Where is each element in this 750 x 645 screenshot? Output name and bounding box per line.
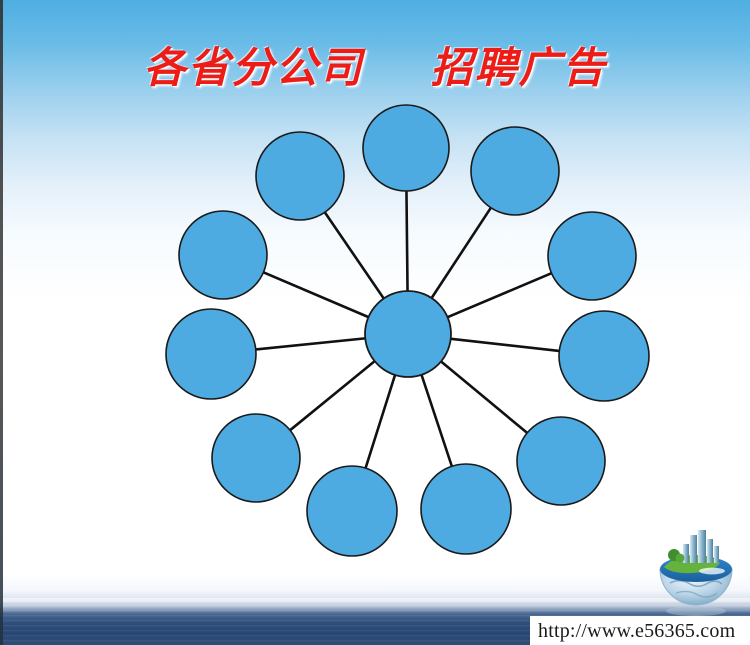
branch-node-8[interactable] — [212, 414, 300, 502]
spoke-line-3 — [447, 273, 553, 318]
hub-center-node[interactable] — [365, 291, 451, 377]
site-url-watermark: http://www.e56365.com — [530, 616, 750, 645]
spoke-line-2 — [431, 207, 491, 299]
branch-node-5[interactable] — [517, 417, 605, 505]
spoke-line-11 — [324, 211, 384, 299]
spoke-line-4 — [450, 339, 561, 351]
spoke-line-5 — [440, 361, 528, 434]
branch-node-10[interactable] — [179, 211, 267, 299]
branch-node-3[interactable] — [548, 212, 636, 300]
slide-canvas: 各省分公司 招聘广告 — [0, 0, 750, 645]
spoke-line-7 — [365, 374, 395, 469]
branch-node-1[interactable] — [363, 105, 449, 191]
globe-city-logo — [646, 527, 746, 619]
branch-node-7[interactable] — [307, 466, 397, 556]
hub-node-group — [365, 291, 451, 377]
logo-shadow — [666, 606, 726, 616]
branch-node-6[interactable] — [421, 464, 511, 554]
spoke-line-8 — [289, 361, 375, 431]
spoke-line-9 — [255, 338, 366, 349]
spoke-line-1 — [406, 190, 407, 292]
branch-node-11[interactable] — [256, 132, 344, 220]
logo-water-highlight — [699, 568, 725, 575]
hub-and-spoke-diagram — [0, 0, 750, 645]
watermark-url-text: http://www.e56365.com — [538, 621, 735, 641]
spoke-line-10 — [263, 272, 370, 318]
branch-node-9[interactable] — [166, 309, 256, 399]
branch-node-4[interactable] — [559, 311, 649, 401]
spoke-line-6 — [421, 374, 452, 467]
branch-node-2[interactable] — [471, 127, 559, 215]
